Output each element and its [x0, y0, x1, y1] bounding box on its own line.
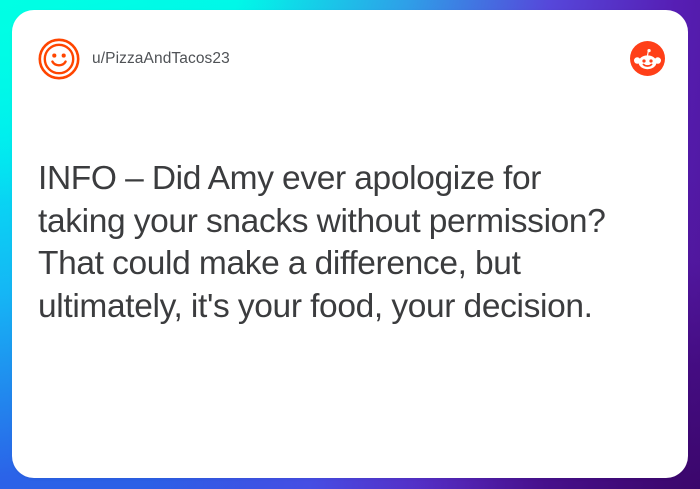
card-header: u/PizzaAndTacos23 [12, 10, 688, 88]
post-text: INFO – Did Amy ever apologize for taking… [38, 158, 608, 328]
username-label[interactable]: u/PizzaAndTacos23 [92, 48, 230, 70]
reddit-snoo-logo-icon[interactable] [630, 41, 665, 76]
smiley-face-avatar-icon[interactable] [38, 38, 80, 80]
post-body: INFO – Did Amy ever apologize for taking… [38, 158, 608, 328]
post-card: u/PizzaAndTacos23 [12, 10, 688, 478]
